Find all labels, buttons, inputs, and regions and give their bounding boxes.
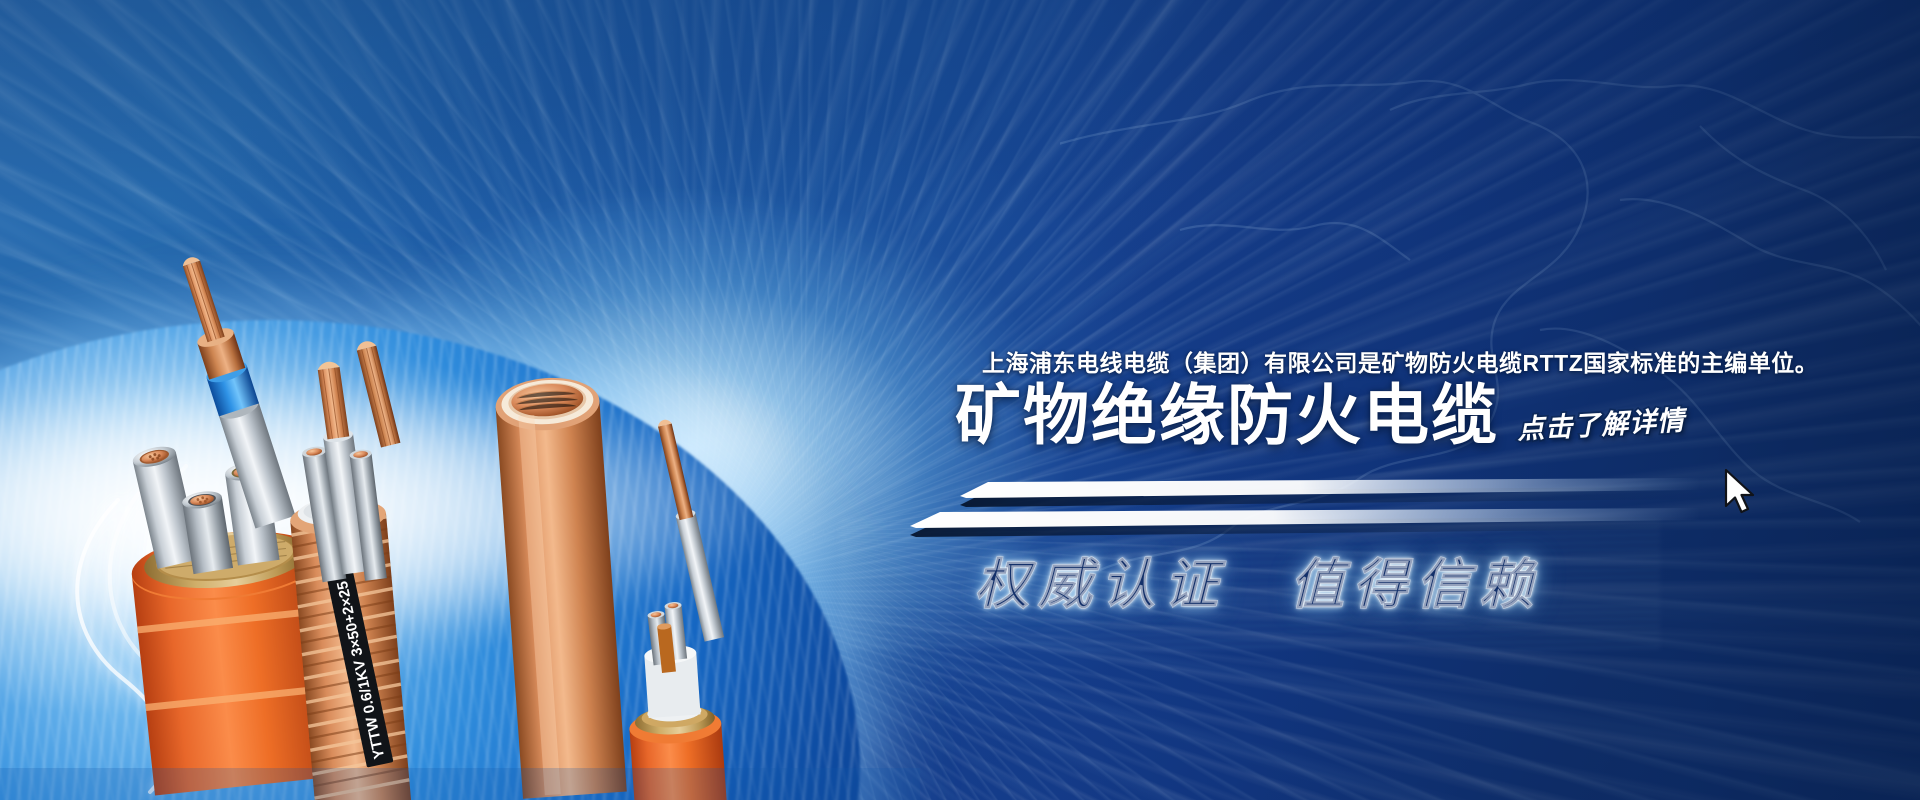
headline-row: 矿物绝缘防火电缆 点击了解详情 [955,382,1685,448]
banner-copy: 上海浦东电线电缆（集团）有限公司是矿物防火电缆RTTZ国家标准的主编单位。 矿物… [900,330,1860,660]
decorative-slant-bars [900,478,1700,540]
cable-product-image: YTTW 0.6/1KV 3×50+2×25 [0,180,920,800]
banner-subtitle: 上海浦东电线电缆（集团）有限公司是矿物防火电缆RTTZ国家标准的主编单位。 [982,344,1818,378]
hero-banner: YTTW 0.6/1KV 3×50+2×25 [0,0,1920,800]
banner-tagline: 权威认证 值得信赖 [975,540,1542,619]
mouse-cursor-icon [1723,468,1759,516]
learn-more-button[interactable]: 点击了解详情 [1516,398,1686,446]
banner-headline: 矿物绝缘防火电缆 [955,382,1499,448]
learn-more-label: 点击了解详情 [1516,405,1685,444]
